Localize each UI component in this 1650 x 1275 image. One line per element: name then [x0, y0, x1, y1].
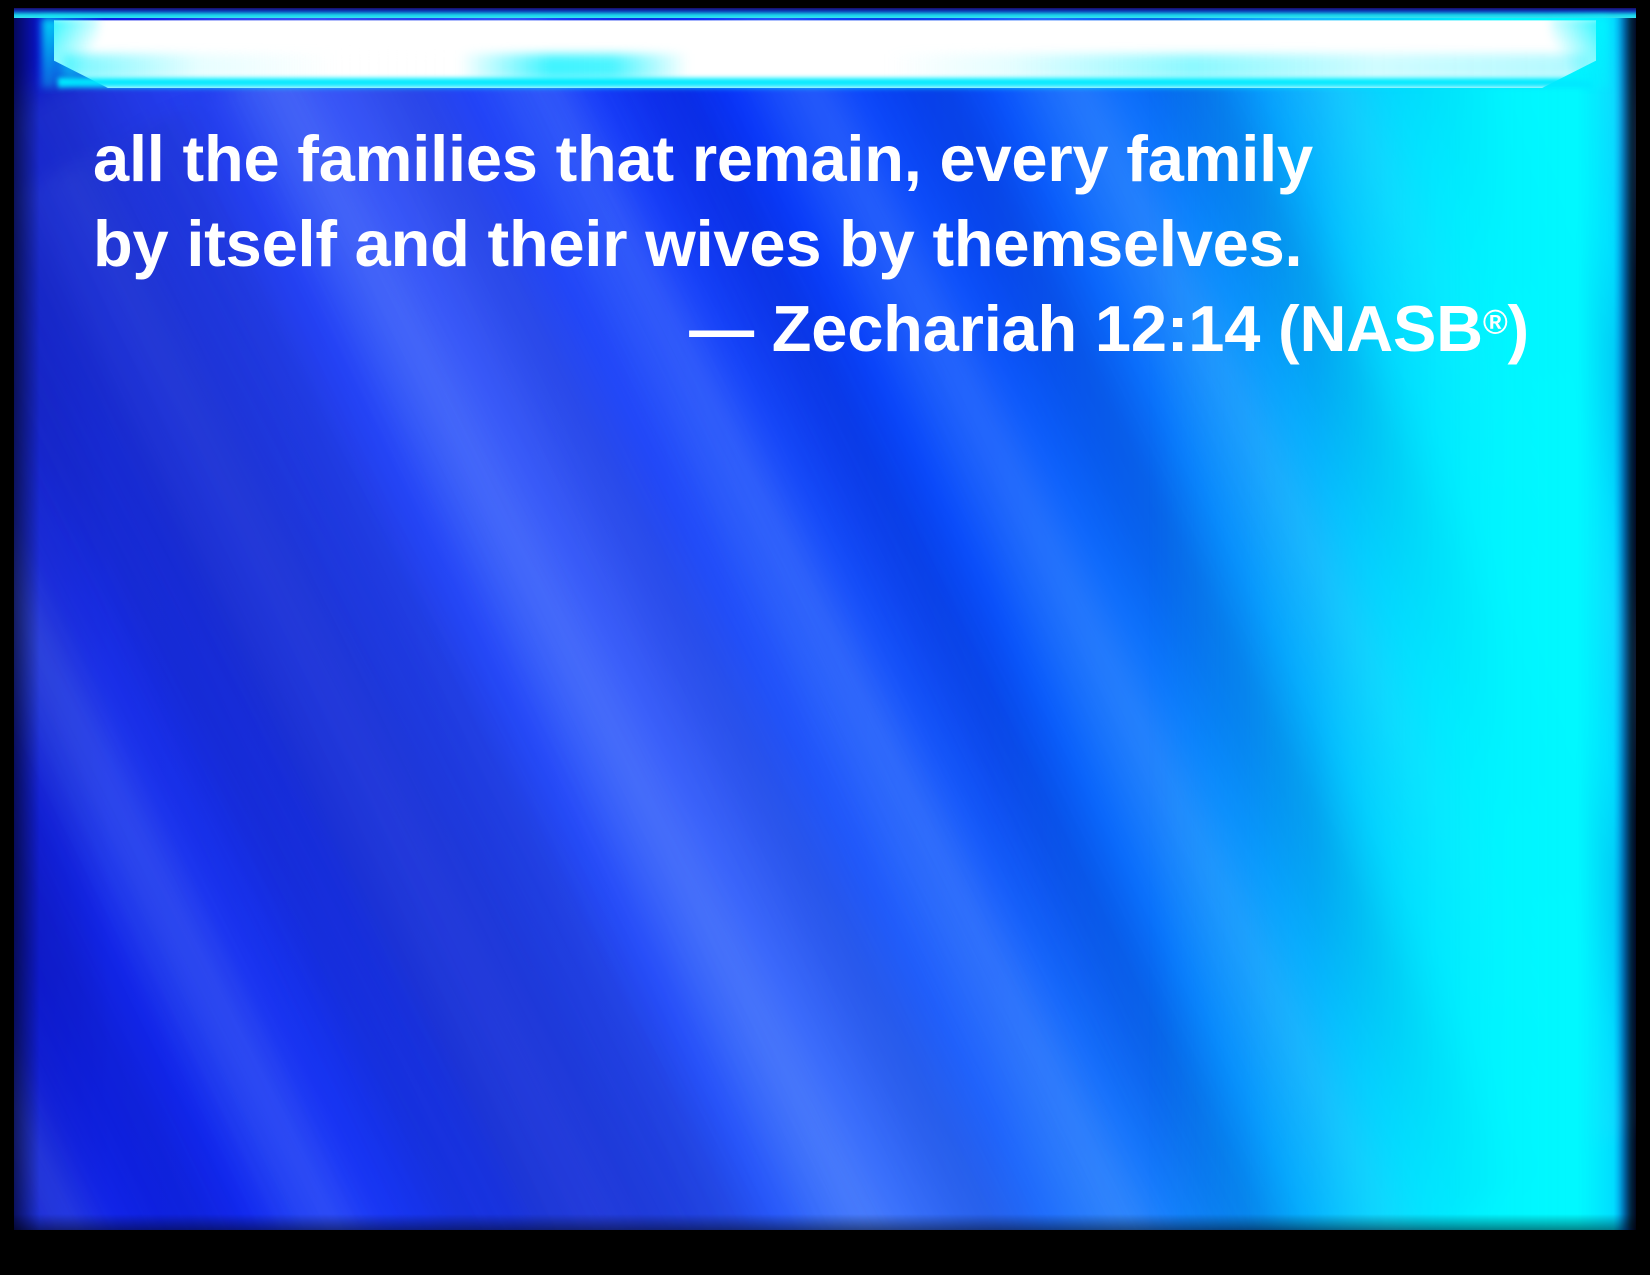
verse-line-2: by itself and their wives by themselves.: [93, 201, 1533, 286]
top-decorative-banner: [14, 8, 1636, 94]
banner-bottom-cyan-edge: [58, 78, 1592, 90]
slide-frame: all the families that remain, every fami…: [0, 0, 1650, 1275]
citation-reference: Zechariah 12:14: [772, 292, 1260, 365]
registered-trademark-icon: ®: [1483, 303, 1508, 341]
banner-top-edge-stripe: [14, 8, 1636, 18]
citation-em-dash: —: [689, 292, 754, 365]
slide-canvas: all the families that remain, every fami…: [14, 8, 1636, 1230]
banner-left-cyan-cap: [42, 18, 100, 88]
verse-text-block: all the families that remain, every fami…: [93, 116, 1533, 371]
verse-citation: — Zechariah 12:14 (NASB®): [93, 286, 1533, 371]
citation-translation-open: (NASB: [1278, 292, 1483, 365]
verse-line-1: all the families that remain, every fami…: [93, 116, 1533, 201]
banner-right-cyan-cap: [1550, 18, 1608, 88]
citation-translation-close: ): [1508, 292, 1529, 365]
banner-inner-cyan-glow: [62, 54, 1590, 80]
